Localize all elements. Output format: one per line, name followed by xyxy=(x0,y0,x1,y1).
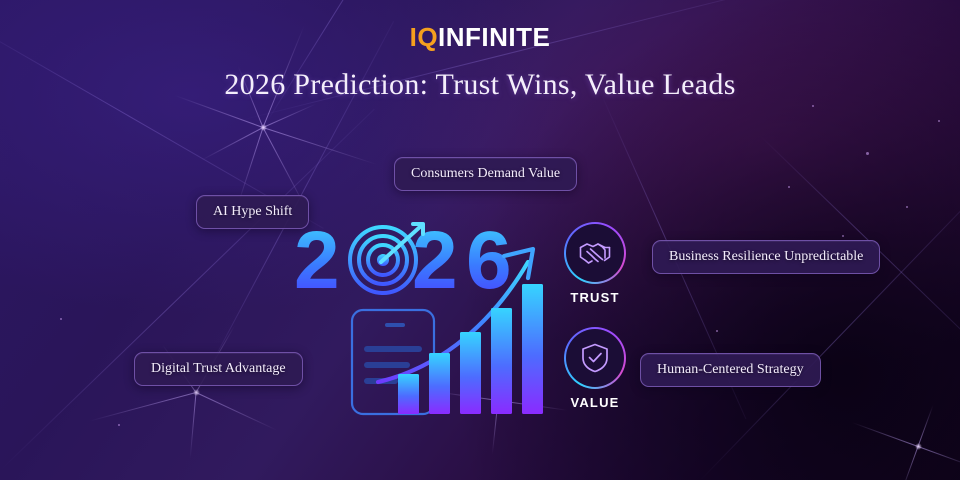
handshake-icon xyxy=(578,238,612,268)
shield-check-icon xyxy=(580,342,610,374)
star-speck xyxy=(118,424,120,426)
pill-label: AI Hype Shift xyxy=(213,204,292,220)
star-speck xyxy=(812,105,814,107)
bar-5 xyxy=(522,284,543,414)
illustration-svg: 2 2 6 xyxy=(290,222,580,422)
badge-value[interactable]: VALUE xyxy=(560,327,630,410)
pill-label: Human-Centered Strategy xyxy=(657,362,804,378)
logo-prefix: IQ xyxy=(410,22,438,52)
bar-2 xyxy=(429,353,450,414)
star-speck xyxy=(842,235,844,237)
year-digit-2b: 2 xyxy=(412,222,458,306)
star-speck xyxy=(788,186,790,188)
star-speck xyxy=(938,120,940,122)
bar-3 xyxy=(460,332,481,414)
tablet-document-icon xyxy=(352,310,434,414)
logo-suffix: INFINITE xyxy=(438,22,550,52)
web-line xyxy=(700,178,960,480)
page-title: 2026 Prediction: Trust Wins, Value Leads xyxy=(0,68,960,102)
web-line xyxy=(263,0,412,128)
pill-business-resilience[interactable]: Business Resilience Unpredictable xyxy=(652,240,880,274)
pill-label: Business Resilience Unpredictable xyxy=(669,249,863,265)
pill-consumers-demand-value[interactable]: Consumers Demand Value xyxy=(394,157,577,191)
bar-4 xyxy=(491,308,512,414)
badge-trust[interactable]: TRUST xyxy=(560,222,630,305)
star-speck xyxy=(906,206,908,208)
pill-label: Digital Trust Advantage xyxy=(151,361,286,377)
badge-ring xyxy=(564,327,626,389)
central-illustration: 2 2 6 xyxy=(290,222,580,422)
badge-ring xyxy=(564,222,626,284)
bar-1 xyxy=(398,374,419,414)
pill-human-centered-strategy[interactable]: Human-Centered Strategy xyxy=(640,353,821,387)
pill-label: Consumers Demand Value xyxy=(411,166,560,182)
badge-label: VALUE xyxy=(560,395,630,410)
pill-digital-trust-advantage[interactable]: Digital Trust Advantage xyxy=(134,352,303,386)
slide-canvas: IQINFINITE 2026 Prediction: Trust Wins, … xyxy=(0,0,960,480)
web-line xyxy=(240,0,784,121)
badge-label: TRUST xyxy=(560,290,630,305)
star-speck xyxy=(866,152,869,155)
year-digit-2: 2 xyxy=(294,222,340,306)
brand-logo: IQINFINITE xyxy=(0,22,960,53)
star-speck xyxy=(716,330,718,332)
star-speck xyxy=(60,318,62,320)
